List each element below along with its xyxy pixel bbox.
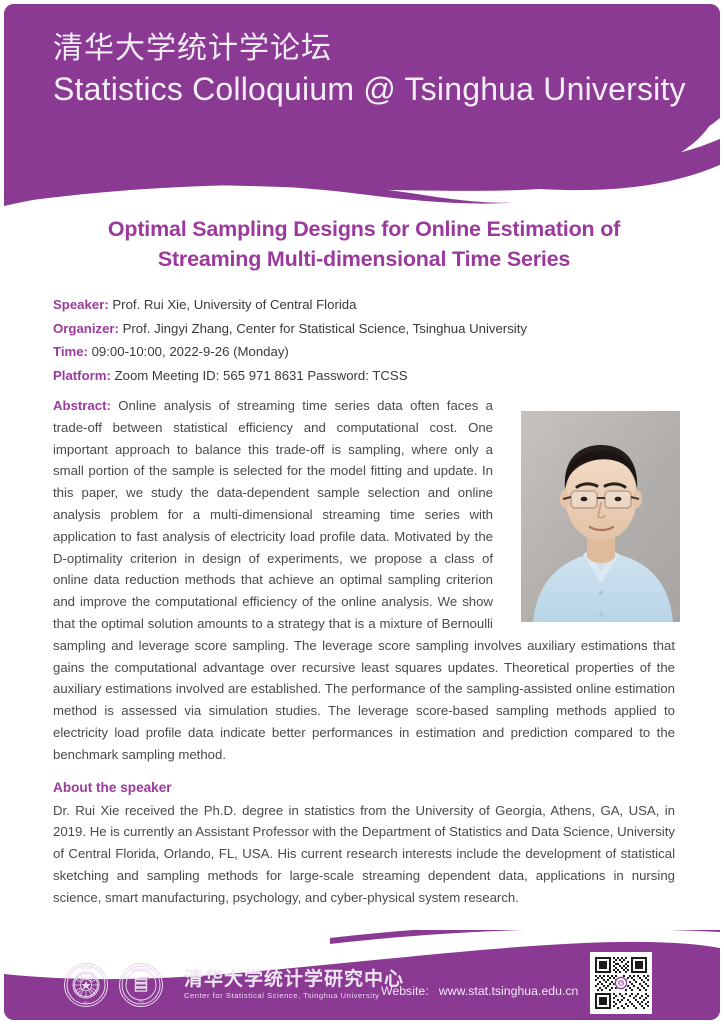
footer-center-name: 清华大学统计学研究中心 Center for Statistical Scien… — [184, 970, 404, 1001]
abstract-label: Abstract: — [53, 398, 111, 413]
poster-canvas: 清华大学统计学论坛 Statistics Colloquium @ Tsingh… — [0, 0, 724, 1024]
meta-row-platform: Platform: Zoom Meeting ID: 565 971 8631 … — [53, 365, 675, 387]
header-title-cn: 清华大学统计学论坛 — [53, 30, 693, 67]
qr-code-icon — [590, 952, 652, 1014]
footer-website: Website: www.stat.tsinghua.edu.cn — [381, 984, 578, 998]
talk-title: Optimal Sampling Designs for Online Esti… — [53, 214, 675, 274]
meta-label-time: Time: — [53, 344, 88, 359]
meta-label-organizer: Organizer: — [53, 321, 119, 336]
portrait-image — [521, 411, 680, 622]
about-the-speaker-heading: About the speaker — [53, 780, 675, 795]
center-for-statistical-science-seal-icon: 统计学研究中心 THU — [118, 962, 164, 1008]
meta-value-time: 09:00-10:00, 2022-9-26 (Monday) — [88, 344, 289, 359]
qr-code[interactable] — [590, 952, 652, 1014]
meta-row-speaker: Speaker: Prof. Rui Xie, University of Ce… — [53, 294, 675, 316]
poster-header: 清华大学统计学论坛 Statistics Colloquium @ Tsingh… — [53, 30, 693, 109]
talk-title-line-2: Streaming Multi-dimensional Time Series — [53, 244, 675, 274]
svg-text:THU: THU — [138, 1000, 143, 1004]
svg-text:清华大学: 清华大学 — [80, 965, 92, 970]
header-title-en: Statistics Colloquium @ Tsinghua Univers… — [53, 69, 693, 109]
about-the-speaker-bio: Dr. Rui Xie received the Ph.D. degree in… — [53, 800, 675, 909]
footer-logos: 清华大学 1911 统计学研究中心 THU 清华大 — [63, 962, 404, 1008]
svg-text:1911: 1911 — [83, 1001, 89, 1005]
meta-value-organizer: Prof. Jingyi Zhang, Center for Statistic… — [119, 321, 527, 336]
about-the-speaker-section: About the speaker Dr. Rui Xie received t… — [53, 780, 675, 909]
svg-text:统计学研究中心: 统计学研究中心 — [130, 967, 151, 972]
talk-meta-list: Speaker: Prof. Rui Xie, University of Ce… — [53, 294, 675, 386]
meta-label-speaker: Speaker: — [53, 297, 109, 312]
meta-row-time: Time: 09:00-10:00, 2022-9-26 (Monday) — [53, 341, 675, 363]
meta-value-platform: Zoom Meeting ID: 565 971 8631 Password: … — [111, 368, 408, 383]
meta-row-organizer: Organizer: Prof. Jingyi Zhang, Center fo… — [53, 318, 675, 340]
footer-website-label: Website: — [381, 984, 429, 998]
speaker-photo — [521, 411, 680, 622]
meta-value-speaker: Prof. Rui Xie, University of Central Flo… — [109, 297, 357, 312]
tsinghua-university-seal-icon: 清华大学 1911 — [63, 962, 109, 1008]
footer-center-name-cn: 清华大学统计学研究中心 — [184, 970, 404, 990]
footer-website-url[interactable]: www.stat.tsinghua.edu.cn — [439, 984, 578, 998]
meta-label-platform: Platform: — [53, 368, 111, 383]
footer-center-name-en: Center for Statistical Science, Tsinghua… — [184, 992, 404, 1000]
talk-title-line-1: Optimal Sampling Designs for Online Esti… — [108, 217, 620, 241]
